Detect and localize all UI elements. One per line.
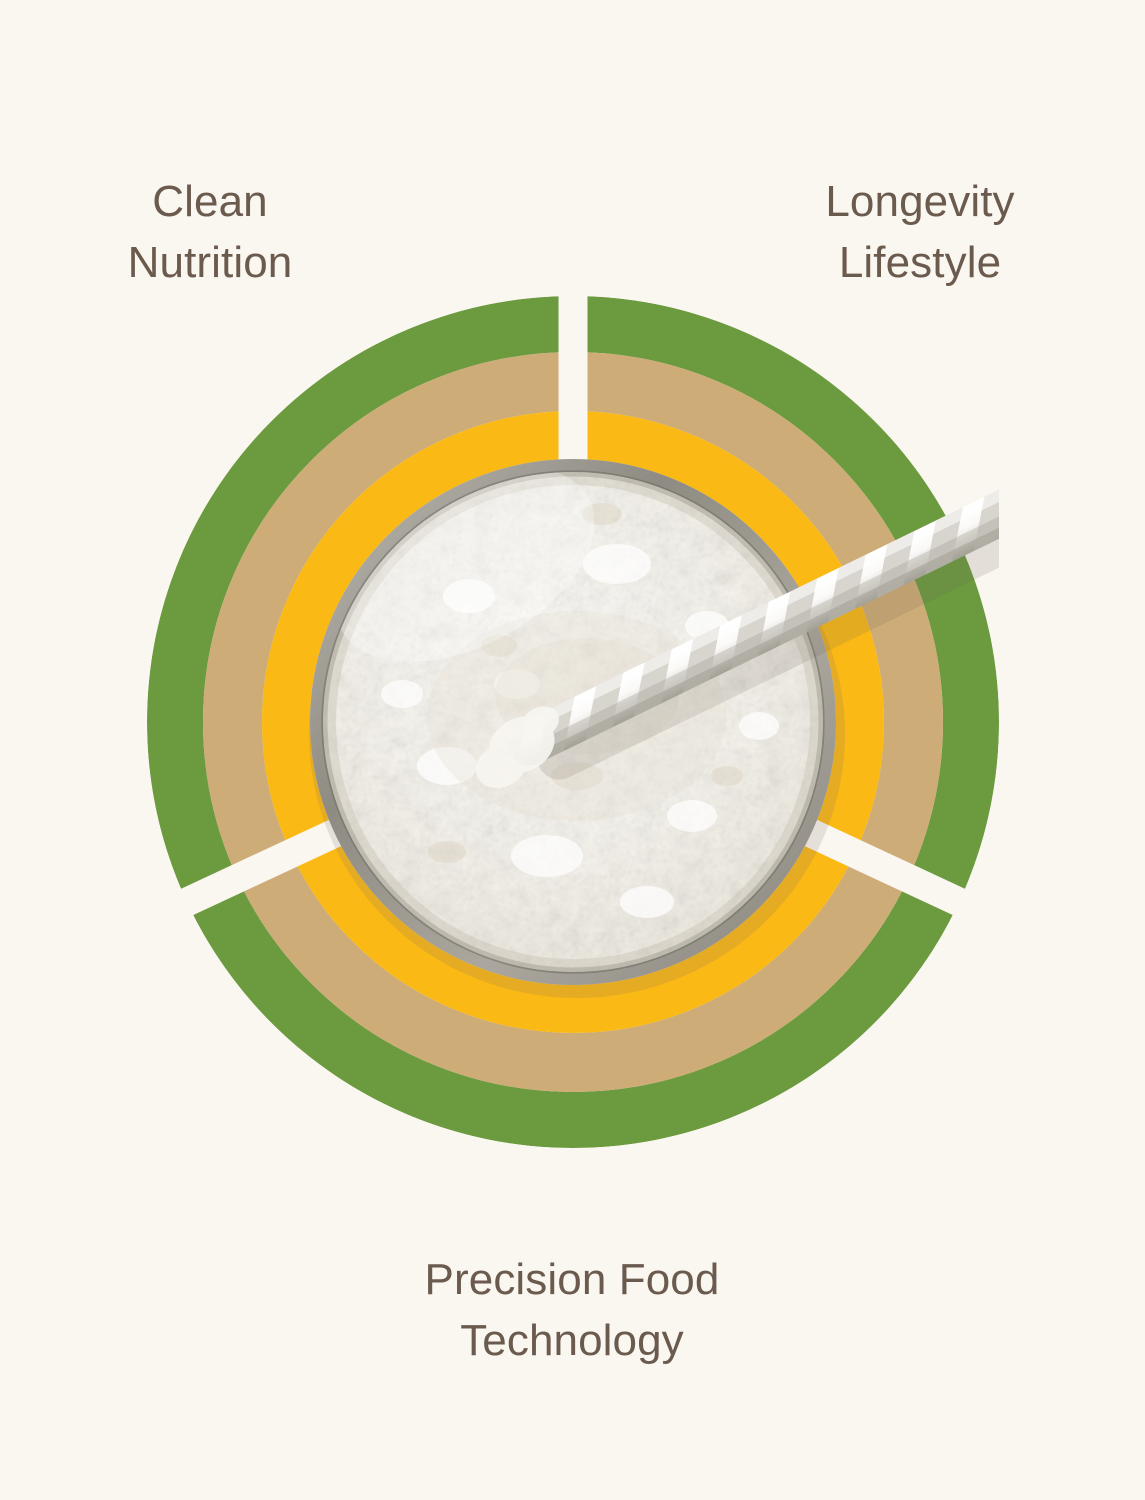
label-precision-food-technology: Precision Food Technology xyxy=(292,1250,852,1371)
label-longevity-lifestyle: Longevity Lifestyle xyxy=(760,172,1080,293)
radial-emblem-svg xyxy=(147,296,999,1148)
radial-emblem xyxy=(147,296,999,1148)
infographic-canvas: Clean Nutrition Longevity Lifestyle Prec… xyxy=(0,0,1145,1500)
label-clean-nutrition: Clean Nutrition xyxy=(40,172,380,293)
